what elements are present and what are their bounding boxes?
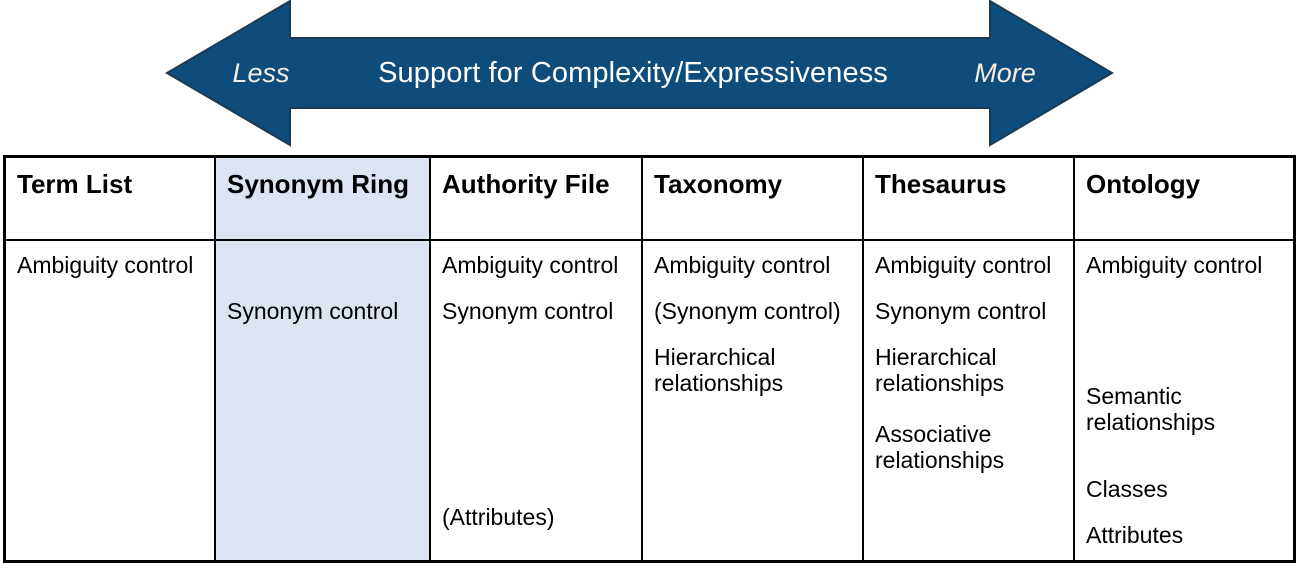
feature-item: Ambiguity control [1086, 252, 1289, 278]
feature-item: Ambiguity control [654, 252, 858, 278]
feature-item: Classes [1086, 476, 1289, 502]
table-body-row: Ambiguity control Synonym control Ambigu… [6, 241, 1293, 560]
column-header-ontology: Ontology [1075, 158, 1293, 239]
feature-item: Ambiguity control [17, 252, 210, 278]
feature-item: (Attributes) [442, 504, 637, 530]
column-body-synonym-ring: Synonym control [216, 241, 431, 560]
kos-comparison-table: Term List Synonym Ring Authority File Ta… [3, 155, 1296, 563]
feature-item: Associative relationships [875, 421, 1069, 473]
complexity-arrow-banner: Less Support for Complexity/Expressivene… [0, 0, 1302, 150]
feature-item: Hierarchical relationships [654, 344, 858, 396]
feature-item: (Synonym control) [654, 298, 858, 324]
column-header-authority-file: Authority File [431, 158, 643, 239]
feature-item: Synonym control [227, 298, 425, 324]
column-body-thesaurus: Ambiguity control Synonym control Hierar… [864, 241, 1075, 560]
feature-item: Hierarchical relationships [875, 344, 1069, 396]
double-headed-arrow-icon [0, 0, 1302, 150]
column-body-authority-file: Ambiguity control Synonym control (Attri… [431, 241, 643, 560]
column-header-synonym-ring: Synonym Ring [216, 158, 431, 239]
column-body-taxonomy: Ambiguity control (Synonym control) Hier… [643, 241, 864, 560]
column-header-thesaurus: Thesaurus [864, 158, 1075, 239]
table-header-row: Term List Synonym Ring Authority File Ta… [6, 158, 1293, 241]
feature-item: Ambiguity control [442, 252, 637, 278]
column-body-term-list: Ambiguity control [6, 241, 216, 560]
feature-item: Attributes [1086, 522, 1289, 548]
column-body-ontology: Ambiguity control Semantic relationships… [1075, 241, 1293, 560]
feature-item: Semantic relationships [1086, 383, 1289, 435]
column-header-term-list: Term List [6, 158, 216, 239]
feature-item: Ambiguity control [875, 252, 1069, 278]
feature-item: Synonym control [875, 298, 1069, 324]
feature-item: Synonym control [442, 298, 637, 324]
column-header-taxonomy: Taxonomy [643, 158, 864, 239]
